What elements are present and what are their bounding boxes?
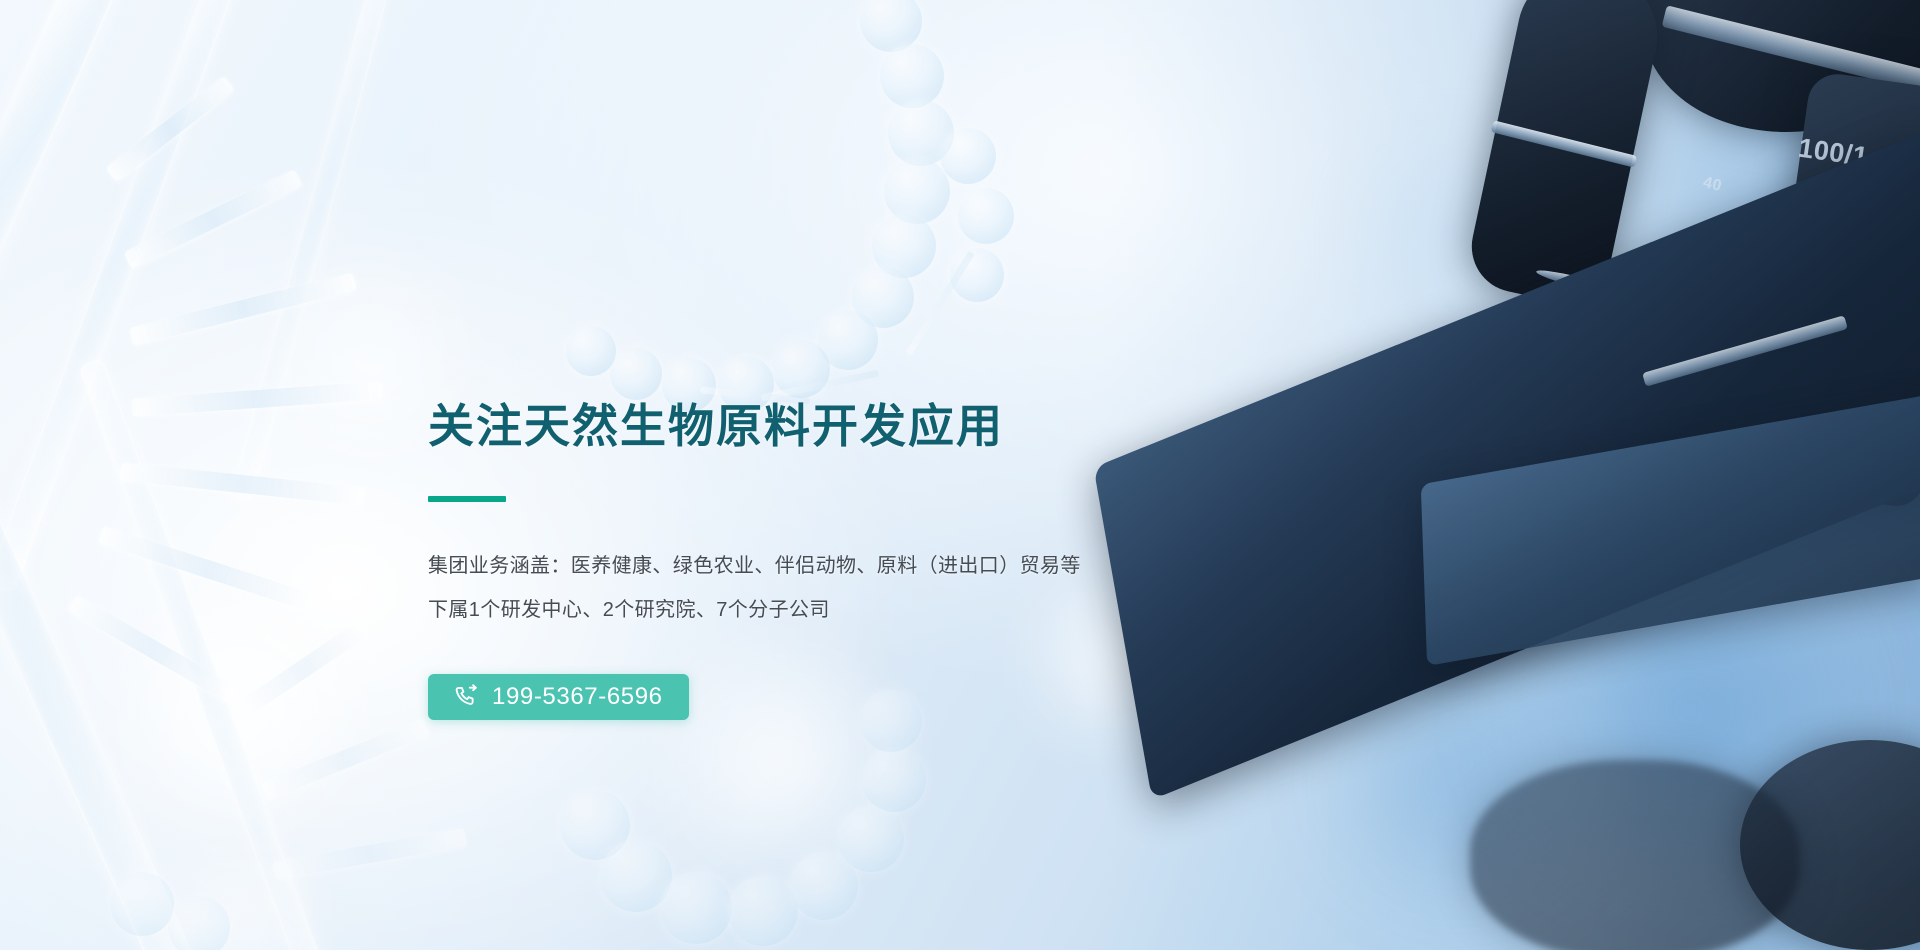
- dna-bead: [560, 790, 630, 860]
- dna-bead: [872, 214, 936, 278]
- dna-helix-strand: [0, 324, 222, 950]
- dna-bead-link: [905, 251, 975, 356]
- bokeh-light: [150, 830, 330, 950]
- phone-forward-icon: [454, 684, 480, 710]
- dna-helix-rung: [124, 169, 303, 268]
- blue-glow: [1480, 520, 1900, 900]
- microscope-marking-160-017: 160/0.17: [1819, 176, 1907, 212]
- dna-helix-strand: [78, 357, 349, 950]
- phone-number-label: 199-5367-6596: [492, 683, 663, 711]
- microscope-turret: [1618, 0, 1920, 162]
- microscope-slide-edge: [1642, 315, 1848, 386]
- microscope-objective-ring: [1491, 120, 1638, 167]
- dna-bead: [958, 188, 1014, 244]
- dna-bead: [838, 806, 904, 872]
- dna-bead: [566, 326, 616, 376]
- microscope-marking-100: 100: [1827, 250, 1865, 278]
- microscope-turret-ring: [1662, 5, 1920, 97]
- phone-contact-button[interactable]: 199-5367-6596: [428, 674, 689, 720]
- dna-bead: [950, 248, 1004, 302]
- page-title: 关注天然生物原料开发应用: [428, 398, 1428, 454]
- dna-bead: [110, 872, 174, 936]
- microscope-focus-knob: [1740, 740, 1920, 950]
- dna-helix-rung: [261, 718, 430, 800]
- microscope-base: [1470, 760, 1800, 950]
- hero-description-line-1: 集团业务涵盖：医养健康、绿色农业、伴侣动物、原料（进出口）贸易等: [428, 544, 1428, 588]
- microscope-marking-100-125: 100/1.25: [1796, 133, 1908, 179]
- dna-helix-rung: [132, 381, 383, 416]
- dna-bead: [772, 340, 830, 398]
- bokeh-light: [1340, 120, 1570, 350]
- dna-bead: [660, 872, 732, 944]
- dna-helix-rung: [129, 272, 357, 345]
- dna-helix-rung: [236, 620, 370, 719]
- dna-helix-rung: [105, 76, 234, 183]
- dna-bead: [168, 896, 230, 950]
- dna-helix-rung: [272, 828, 467, 880]
- dna-bead: [852, 266, 914, 328]
- dna-bead: [862, 748, 926, 812]
- dna-bead: [790, 852, 858, 920]
- hero-description: 集团业务涵盖：医养健康、绿色农业、伴侣动物、原料（进出口）贸易等 下属1个研发中…: [428, 544, 1428, 632]
- title-divider: [428, 496, 506, 502]
- dna-bead: [888, 100, 954, 166]
- hero-description-line-2: 下属1个研发中心、2个研究院、7个分子公司: [428, 588, 1428, 632]
- dna-bead: [728, 876, 798, 946]
- hero-content: 关注天然生物原料开发应用 集团业务涵盖：医养健康、绿色农业、伴侣动物、原料（进出…: [428, 398, 1428, 720]
- dna-helix-rung: [68, 595, 237, 703]
- dna-bead: [600, 840, 672, 912]
- microscope-marking-40: 40: [1701, 174, 1724, 196]
- dna-helix-strand: [0, 0, 124, 486]
- dna-bead: [880, 44, 944, 108]
- microscope-lens-tip: [1535, 267, 1621, 298]
- dna-bead: [818, 310, 878, 370]
- dna-helix-strand: [0, 0, 254, 594]
- microscope-stage-clip: [1421, 394, 1920, 666]
- dna-bead: [884, 158, 950, 224]
- dna-bead: [860, 0, 922, 52]
- microscope-lens-tip: [1852, 462, 1920, 484]
- dna-helix-rung: [120, 462, 366, 506]
- dna-helix-strand: [230, 0, 391, 504]
- dna-bead-link: [761, 370, 880, 402]
- hero-banner: 40 100/1.25 160/0.17 100 关注天然生物原料开发应用 集团…: [0, 0, 1920, 950]
- dna-helix-rung: [98, 526, 318, 613]
- bokeh-light: [90, 560, 390, 860]
- microscope-objective-lens: [1754, 70, 1920, 509]
- microscope-objective-ring: [1860, 255, 1920, 281]
- dna-bead: [610, 348, 662, 400]
- dna-bead: [940, 128, 996, 184]
- microscope-objective-lens: [1463, 0, 1669, 311]
